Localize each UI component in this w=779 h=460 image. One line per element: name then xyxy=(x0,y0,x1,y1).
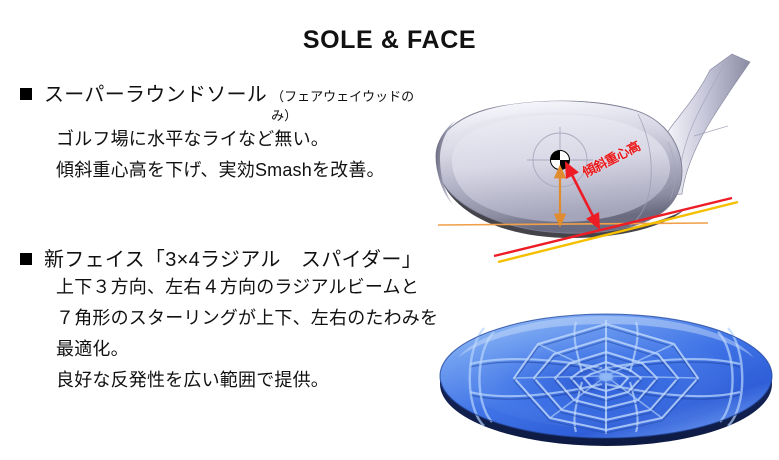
bullet-heading-row-1: スーパーラウンドソール （フェアウェイウッドのみ） xyxy=(20,78,430,124)
section-2-heading: 新フェイス「3×4ラジアル スパイダー」 xyxy=(44,243,422,272)
bullet-heading-row-2: 新フェイス「3×4ラジアル スパイダー」 xyxy=(20,243,430,272)
section-1-line-1: ゴルフ場に水平なライなど無い。 xyxy=(56,124,430,155)
section-1-heading-note: （フェアウェイウッドのみ） xyxy=(271,86,430,124)
section-2-line-4: 良好な反発性を広い範囲で提供。 xyxy=(56,365,430,396)
face-center-core xyxy=(599,373,613,381)
square-bullet-icon xyxy=(20,88,32,100)
section-2-line-1: 上下３方向、左右４方向のラジアルビームと xyxy=(56,272,430,303)
horizontal-ground-line xyxy=(438,223,708,225)
section-1-heading: スーパーラウンドソール xyxy=(44,78,267,107)
section-1-line-2: 傾斜重心高を下げ、実効Smashを改善。 xyxy=(56,155,430,186)
slide-canvas: SOLE & FACE スーパーラウンドソール （フェアウェイウッドのみ） ゴル… xyxy=(0,0,779,460)
section-2-line-2: ７角形のスターリングが上下、左右のたわみを xyxy=(56,303,430,334)
square-bullet-icon xyxy=(20,253,32,265)
section-2-line-3: 最適化。 xyxy=(56,334,430,365)
figure-club-face xyxy=(430,272,779,458)
section-super-round-sole: スーパーラウンドソール （フェアウェイウッドのみ） ゴルフ場に水平なライなど無い… xyxy=(0,78,430,186)
section-new-face: 新フェイス「3×4ラジアル スパイダー」 上下３方向、左右４方向のラジアルビーム… xyxy=(0,243,430,396)
